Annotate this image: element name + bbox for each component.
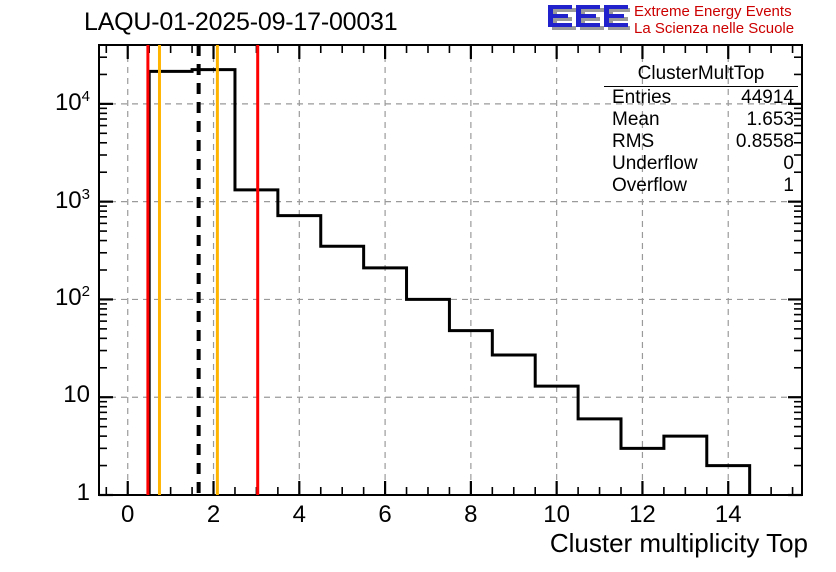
eee-logo-line2: La Scienza nelle Scuole: [634, 20, 794, 37]
x-tick-label: 8: [441, 501, 501, 529]
stats-value: 0: [783, 153, 794, 175]
stats-row: Underflow0: [604, 153, 798, 175]
x-tick-label: 4: [269, 501, 329, 529]
y-tick-label: 10: [20, 381, 90, 409]
stats-value: 1.653: [746, 109, 794, 131]
x-tick-label: 2: [184, 501, 244, 529]
eee-logo-text: Extreme Energy Events La Scienza nelle S…: [634, 3, 794, 37]
eee-logo-mark: [546, 4, 630, 34]
root-canvas: LAQU-01-2025-09-17-00031: [0, 0, 836, 572]
y-tick-label: 1: [20, 479, 90, 507]
stats-key: Entries: [612, 87, 671, 109]
stats-key: RMS: [612, 131, 654, 153]
y-tick-label: 102: [20, 283, 90, 312]
eee-logo-line1: Extreme Energy Events: [634, 3, 794, 20]
x-tick-label: 14: [698, 501, 758, 529]
stats-key: Mean: [612, 109, 660, 131]
stats-value: 0.8558: [736, 131, 794, 153]
stats-title: ClusterMultTop: [604, 62, 798, 87]
x-tick-label: 10: [527, 501, 587, 529]
x-tick-label: 0: [98, 501, 158, 529]
eee-logo: Extreme Energy Events La Scienza nelle S…: [546, 3, 832, 37]
stats-row: Overflow1: [604, 175, 798, 197]
stats-row: RMS0.8558: [604, 131, 798, 153]
stats-rows: Entries44914Mean1.653RMS0.8558Underflow0…: [604, 87, 798, 197]
stats-value: 1: [783, 175, 794, 197]
stats-row: Mean1.653: [604, 109, 798, 131]
x-tick-label: 12: [612, 501, 672, 529]
page-title: LAQU-01-2025-09-17-00031: [84, 8, 397, 37]
stats-row: Entries44914: [604, 87, 798, 109]
stats-key: Underflow: [612, 153, 698, 175]
y-tick-label: 103: [20, 186, 90, 215]
x-axis-title: Cluster multiplicity Top: [550, 528, 808, 559]
y-tick-label: 104: [20, 88, 90, 117]
x-tick-label: 6: [355, 501, 415, 529]
stats-value: 44914: [741, 87, 794, 109]
stats-key: Overflow: [612, 175, 687, 197]
stats-box: ClusterMultTop Entries44914Mean1.653RMS0…: [604, 62, 798, 210]
